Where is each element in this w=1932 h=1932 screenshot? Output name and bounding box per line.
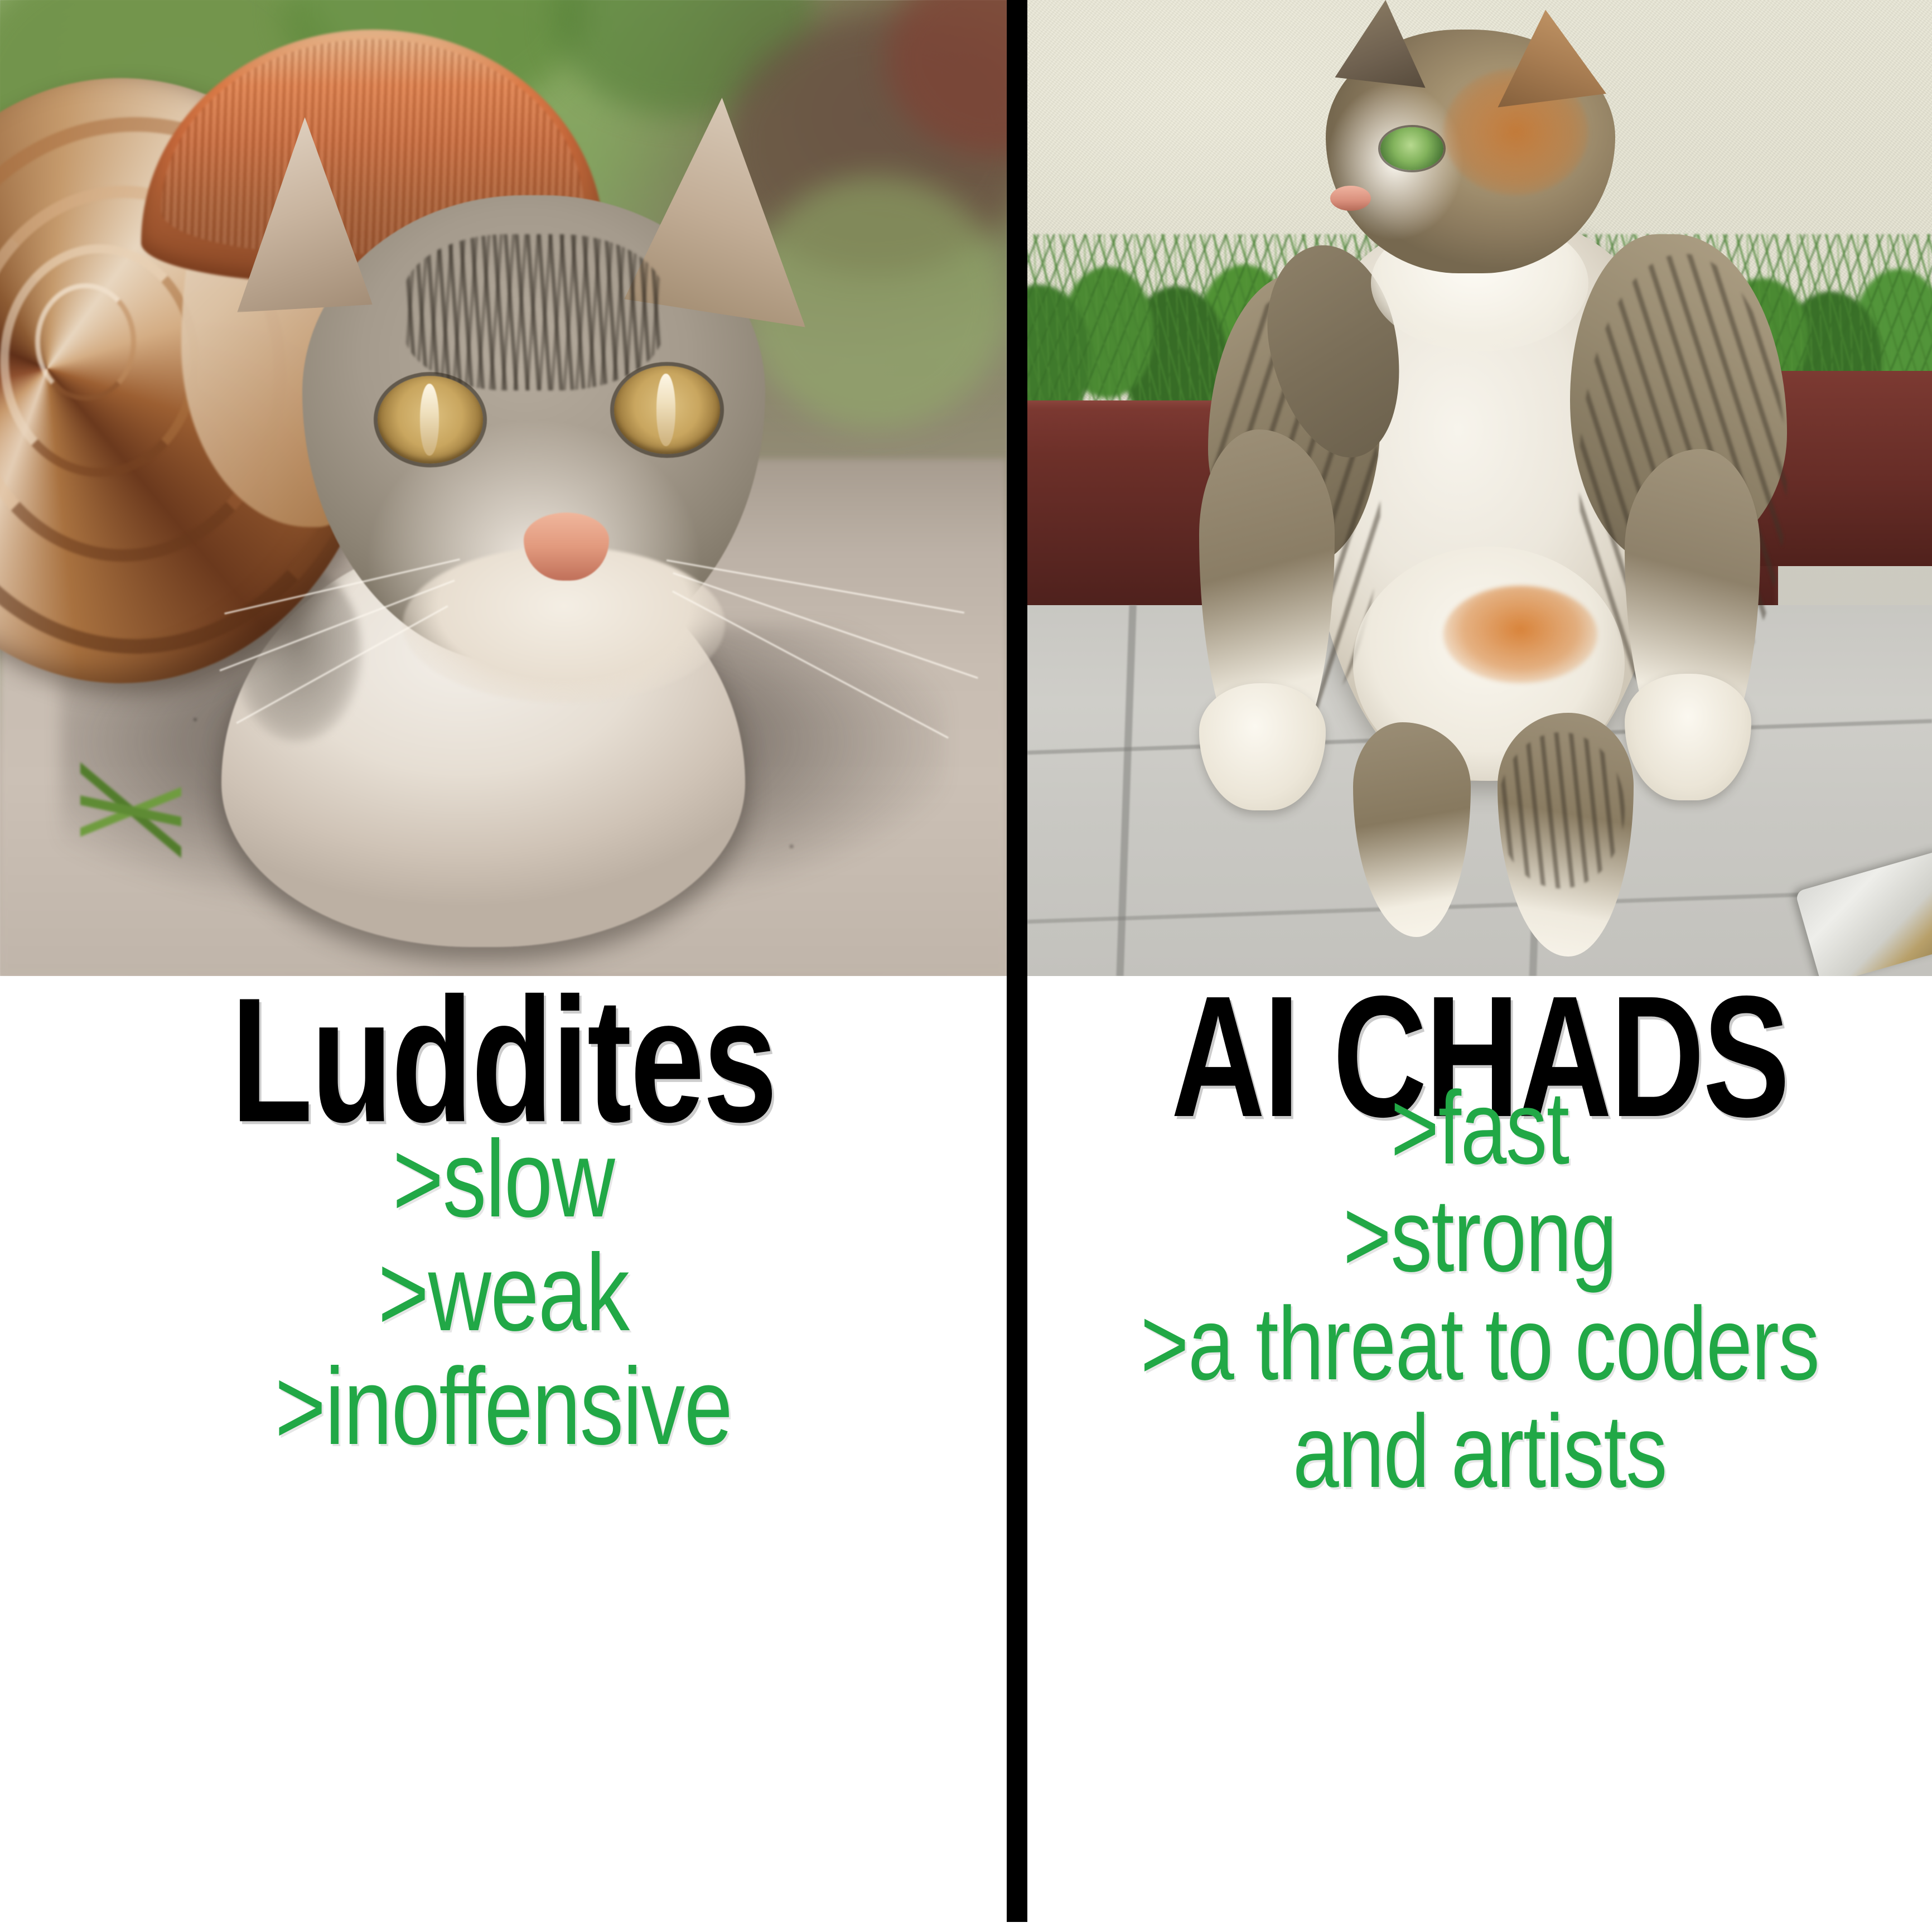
cat-forehead-stripes: [403, 234, 664, 390]
cat-pupil-right: [656, 374, 675, 446]
cat-paw-left: [1199, 683, 1326, 810]
cat-eye: [1380, 127, 1444, 170]
caption-right: AI CHADS >fast >strong >a threat to code…: [1027, 976, 1932, 1932]
panel-divider: [1007, 0, 1027, 1922]
cat-hind-stripes: [1498, 732, 1624, 888]
cat-ginger-patch: [1443, 586, 1597, 683]
panel-title-luddites: Luddites: [101, 978, 906, 1142]
meme-panel-left: Luddites >slow >weak >inoffensive: [0, 0, 1007, 1932]
meme-image: Luddites >slow >weak >inoffensive: [0, 0, 1932, 1932]
cat-nose: [1330, 186, 1371, 211]
cat-paw-right: [1625, 674, 1751, 801]
shell-spiral-ring: [35, 283, 136, 401]
grass-sprout: [80, 742, 181, 878]
greentext-left: >slow >weak >inoffensive: [101, 1122, 906, 1463]
buff-cat: [1027, 0, 1932, 976]
greentext-line: >strong: [1118, 1182, 1842, 1289]
meme-panel-right: AI CHADS >fast >strong >a threat to code…: [1027, 0, 1932, 1932]
greentext-line: >inoffensive: [101, 1350, 906, 1464]
cat-pupil-left: [420, 384, 439, 456]
greentext-line: >weak: [101, 1236, 906, 1350]
greentext-line: >slow: [101, 1122, 906, 1236]
greentext-line: >a threat to coders and artists: [1118, 1290, 1842, 1506]
cat-hind-leg-left: [1353, 722, 1471, 937]
greentext-right: >fast >strong >a threat to coders and ar…: [1118, 1074, 1842, 1506]
caption-left: Luddites >slow >weak >inoffensive: [0, 976, 1007, 1932]
buff-cat-photo: [1027, 0, 1932, 976]
snail-cat-photo: [0, 0, 1007, 976]
greentext-line: >fast: [1118, 1074, 1842, 1182]
